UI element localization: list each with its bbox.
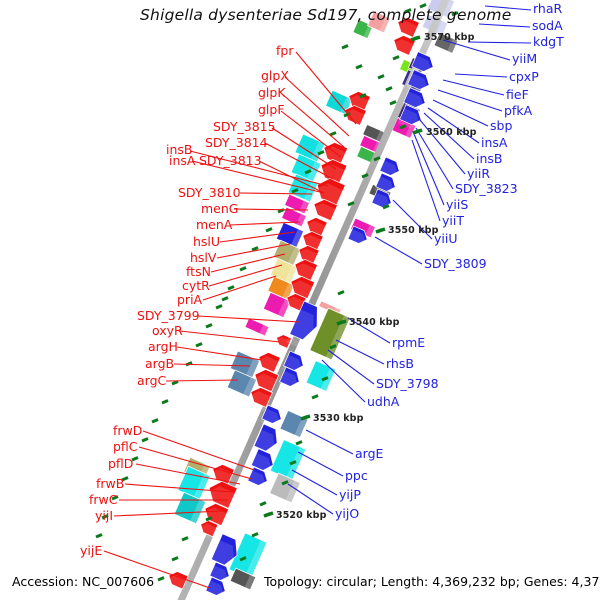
gene-label[interactable]: SDY_3799 (137, 310, 200, 323)
gene-label[interactable]: menG (201, 203, 238, 216)
gene-label[interactable]: frwC (89, 494, 118, 507)
scale-tick-mark (172, 558, 178, 561)
label-leader-line (412, 140, 440, 221)
gene-label[interactable]: fieF (506, 89, 529, 102)
scale-tick-mark (152, 420, 158, 423)
gene-label[interactable]: yiiM (512, 53, 537, 66)
gene-label[interactable]: ftsN (186, 266, 211, 279)
gene-label[interactable]: yiiR (467, 168, 490, 181)
scale-tick-mark (158, 578, 164, 581)
genome-viewer: Shigella dysenteriae Sd197, complete gen… (0, 0, 600, 600)
scale-tick-mark (330, 133, 336, 136)
gene-label[interactable]: rhsB (386, 358, 414, 371)
scale-tick-mark (260, 503, 266, 506)
genome-stats-text: Topology: circular; Length: 4,369,232 bp… (264, 574, 600, 589)
gene-label[interactable]: cpxP (509, 71, 539, 84)
scale-ruler-mark (376, 229, 385, 232)
scale-tick-mark (228, 287, 234, 290)
label-leader-line (298, 452, 343, 476)
gene-label[interactable]: insB (476, 153, 502, 166)
gene-label[interactable]: sodA (532, 20, 563, 33)
gene-label[interactable]: glpK (258, 87, 286, 100)
gene-label[interactable]: oxyR (152, 325, 183, 338)
gene-label[interactable]: SDY_3815 (213, 121, 276, 134)
gene-label[interactable]: SDY_3823 (455, 183, 518, 196)
scale-tick-mark (378, 76, 384, 79)
gene-label[interactable]: pflD (108, 458, 133, 471)
scale-tick-mark (96, 535, 102, 538)
gene-label[interactable]: sbp (490, 120, 512, 133)
scale-tick-mark (142, 439, 148, 442)
scale-ruler-mark (413, 130, 422, 133)
label-leader-line (375, 237, 422, 264)
gene-label[interactable]: yiiT (442, 215, 464, 228)
gene-label[interactable]: pfkA (504, 105, 532, 118)
label-leader-line (306, 430, 353, 454)
scale-tick-mark (206, 325, 212, 328)
label-leader-line (443, 80, 504, 95)
gene-label[interactable]: insA (169, 155, 195, 168)
scale-tick-mark (196, 344, 202, 347)
gene-label[interactable]: ppc (345, 470, 368, 483)
gene-label[interactable]: rhaR (533, 3, 562, 16)
label-leader-line (203, 276, 276, 300)
scale-tick-mark (296, 442, 302, 445)
scale-tick-mark (390, 102, 396, 105)
scale-tick-mark (342, 46, 348, 49)
scale-tick-mark (386, 88, 392, 91)
gene-label[interactable]: kdgT (533, 36, 564, 49)
scale-tick-mark (182, 538, 188, 541)
scale-position-label: 3520 kbp (276, 511, 326, 521)
scale-tick-mark (266, 229, 272, 232)
label-leader-line (166, 380, 238, 381)
scale-position-label: 3550 kbp (388, 226, 438, 236)
label-leader-line (455, 74, 507, 77)
scale-tick-mark (222, 298, 228, 301)
cog-block (280, 410, 308, 437)
cog-block (270, 473, 301, 503)
scale-position-label: 3530 kbp (313, 414, 363, 424)
gene-label[interactable]: yijO (335, 508, 359, 521)
scale-position-label: 3560 kbp (426, 128, 476, 138)
label-leader-line (177, 347, 262, 360)
gene-label[interactable]: pflC (113, 441, 138, 454)
scale-tick-mark (240, 268, 246, 271)
gene-label[interactable]: SDY_3798 (376, 378, 439, 391)
label-leader-line (468, 42, 531, 43)
gene-label[interactable]: insA (481, 137, 507, 150)
gene-label[interactable]: cytR (182, 280, 210, 293)
gene-label[interactable]: glpX (261, 70, 289, 83)
cog-block (245, 318, 269, 336)
scale-ruler-mark (264, 513, 273, 516)
gene-label[interactable]: hslU (193, 236, 220, 249)
gene-label[interactable]: argC (137, 375, 166, 388)
gene-label[interactable]: argH (148, 341, 178, 354)
gene-label[interactable]: frwB (96, 478, 124, 491)
gene-label[interactable]: priA (177, 294, 202, 307)
gene-label[interactable]: menA (196, 219, 232, 232)
gene-label[interactable]: rpmE (392, 337, 425, 350)
cog-block (306, 361, 336, 392)
scale-tick-mark (312, 396, 318, 399)
scale-position-label: 3570 kbp (424, 33, 474, 43)
gene-label[interactable]: SDY_3810 (178, 187, 241, 200)
label-leader-line (414, 134, 444, 205)
gene-label[interactable]: SDY_3814 (205, 137, 268, 150)
scale-tick-mark (252, 248, 258, 251)
scale-tick-mark (252, 534, 258, 537)
gene-label[interactable]: yijP (339, 489, 361, 502)
scale-tick-mark (162, 401, 168, 404)
gene-label[interactable]: frwD (113, 425, 142, 438)
accession-text: Accession: NC_007606 (12, 574, 154, 589)
gene-label[interactable]: fpr (276, 45, 293, 58)
label-leader-line (479, 24, 530, 27)
gene-label[interactable]: hslV (190, 252, 216, 265)
label-leader-line (336, 340, 384, 364)
page-title: Shigella dysenteriae Sd197, complete gen… (140, 6, 511, 24)
scale-tick-mark (216, 306, 222, 309)
label-leader-line (438, 90, 502, 111)
gene-label[interactable]: glpF (258, 104, 285, 117)
gene-label[interactable]: yijI (95, 510, 113, 523)
scale-position-label: 3540 kbp (349, 318, 399, 328)
scale-tick-mark (356, 66, 362, 69)
gene-label[interactable]: udhA (367, 396, 399, 409)
gene-label[interactable]: yiiS (446, 199, 468, 212)
scale-tick-mark (172, 382, 178, 385)
scale-tick-mark (338, 292, 344, 295)
gene-label[interactable]: SDY_3813 (199, 155, 262, 168)
gene-label[interactable]: argB (145, 358, 174, 371)
gene-label[interactable]: SDY_3809 (424, 258, 487, 271)
scale-tick-mark (393, 57, 399, 60)
gene-label[interactable]: yijE (80, 545, 102, 558)
gene-label[interactable]: argE (355, 448, 383, 461)
